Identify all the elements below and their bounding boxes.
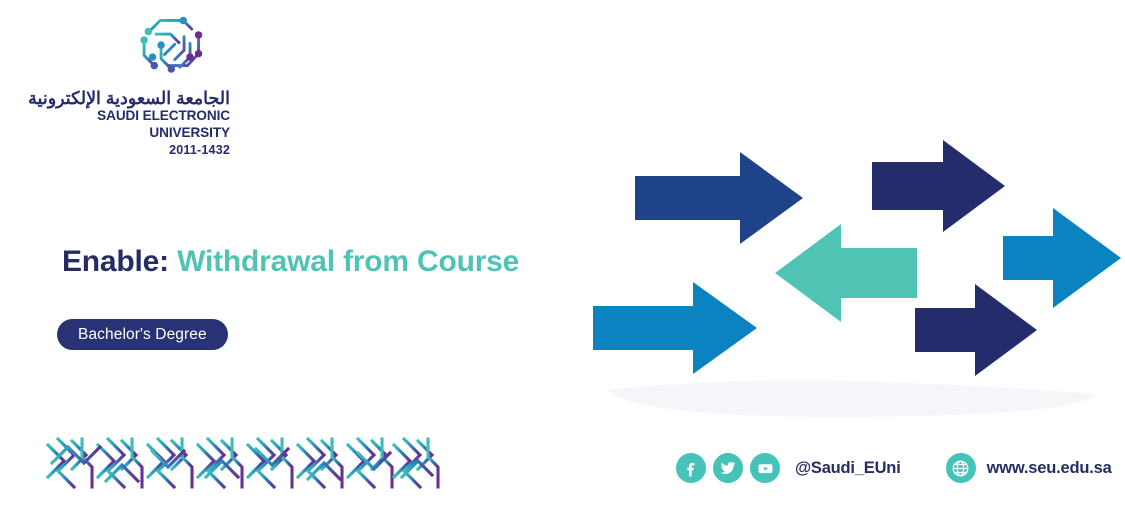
globe-glyph [950, 458, 971, 479]
footer-bar: @Saudi_EUni www.seu.edu.sa [676, 449, 1112, 487]
poster-canvas: الجامعة السعودية الإلكترونية SAUDI ELECT… [0, 0, 1125, 507]
brand-logo-block: الجامعة السعودية الإلكترونية SAUDI ELECT… [14, 6, 244, 159]
twitter-icon[interactable] [713, 453, 743, 483]
circuit-pattern-strip [46, 437, 440, 489]
brand-founded-years: 2011-1432 [14, 142, 244, 159]
hexagon-circuit-logo-icon [130, 6, 216, 86]
facebook-icon[interactable] [676, 453, 706, 483]
facebook-glyph [682, 459, 700, 477]
arrow-bottom-left [595, 306, 737, 374]
arrow-top-left [638, 174, 780, 242]
page-title-rest: Withdrawal from Course [169, 245, 519, 278]
arrow-center-teal [718, 252, 838, 324]
arrows-illustration [585, 140, 1125, 430]
twitter-glyph [719, 459, 737, 477]
youtube-icon[interactable] [750, 453, 780, 483]
arrow-mid-right [1003, 216, 1115, 310]
arrow-bottom-right [913, 310, 1053, 378]
page-title: Enable: Withdrawal from Course [62, 245, 519, 279]
youtube-glyph [756, 459, 775, 478]
page-title-lead: Enable: [62, 245, 169, 278]
arrow-top-right [873, 166, 1013, 234]
brand-name-arabic: الجامعة السعودية الإلكترونية [14, 88, 244, 108]
globe-icon[interactable] [946, 453, 976, 483]
website-group[interactable]: www.seu.edu.sa [946, 453, 1112, 483]
degree-level-badge: Bachelor's Degree [57, 319, 228, 350]
website-url: www.seu.edu.sa [987, 459, 1112, 478]
social-handle: @Saudi_EUni [795, 459, 901, 478]
brand-name-english: SAUDI ELECTRONIC UNIVERSITY [14, 108, 244, 142]
